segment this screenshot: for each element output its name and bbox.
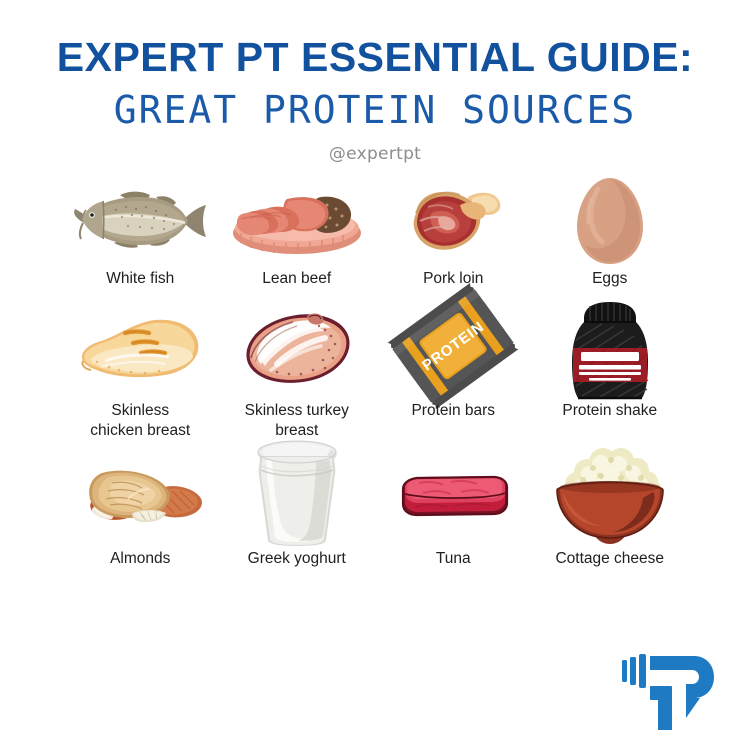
item-label: Protein bars bbox=[411, 401, 495, 421]
protein-sources-grid: White fish bbox=[62, 180, 688, 591]
item-label: Eggs bbox=[592, 269, 627, 289]
tuna-steak-icon bbox=[393, 446, 513, 542]
item-greek-yoghurt: Greek yoghurt bbox=[219, 446, 376, 591]
item-label: Skinless chicken breast bbox=[90, 401, 190, 441]
item-protein-bars: PROTEIN Protein bars bbox=[375, 298, 532, 446]
item-almonds: Almonds bbox=[62, 446, 219, 591]
item-lean-beef: Lean beef bbox=[219, 180, 376, 298]
item-label: White fish bbox=[106, 269, 174, 289]
poster-header: EXPERT PT ESSENTIAL GUIDE: GREAT PROTEIN… bbox=[0, 0, 750, 164]
item-pork-loin: Pork loin bbox=[375, 180, 532, 298]
yoghurt-pot-icon bbox=[250, 446, 344, 542]
social-handle: @expertpt bbox=[0, 144, 750, 164]
egg-icon bbox=[571, 180, 649, 262]
item-white-fish: White fish bbox=[62, 180, 219, 298]
expert-pt-logo[interactable] bbox=[620, 652, 716, 732]
turkey-breast-icon bbox=[237, 298, 357, 394]
cheese-bowl-icon bbox=[543, 446, 677, 542]
item-cottage-cheese: Cottage cheese bbox=[532, 446, 689, 591]
page-title-line2: GREAT PROTEIN SOURCES bbox=[0, 85, 750, 136]
item-label: Protein shake bbox=[562, 401, 657, 421]
item-label: Almonds bbox=[110, 549, 170, 569]
item-tuna: Tuna bbox=[375, 446, 532, 591]
item-label: Cottage cheese bbox=[555, 549, 664, 569]
item-skinless-turkey: Skinless turkey breast bbox=[219, 298, 376, 446]
item-label: Pork loin bbox=[423, 269, 483, 289]
protein-tub-icon bbox=[562, 298, 658, 394]
page-title-line1: EXPERT PT ESSENTIAL GUIDE: bbox=[0, 36, 750, 79]
item-label: Lean beef bbox=[262, 269, 331, 289]
item-skinless-chicken: Skinless chicken breast bbox=[62, 298, 219, 446]
pork-joint-icon bbox=[398, 180, 508, 262]
item-label: Skinless turkey breast bbox=[245, 401, 349, 441]
protein-bar-icon: PROTEIN bbox=[398, 298, 508, 394]
item-protein-shake: Protein shake bbox=[532, 298, 689, 446]
item-label: Tuna bbox=[436, 549, 471, 569]
item-eggs: Eggs bbox=[532, 180, 689, 298]
almonds-icon bbox=[72, 446, 208, 542]
infographic-poster: EXPERT PT ESSENTIAL GUIDE: GREAT PROTEIN… bbox=[0, 0, 750, 750]
fish-icon bbox=[70, 180, 210, 262]
chicken-breast-icon bbox=[75, 298, 205, 394]
roast-beef-plate-icon bbox=[229, 180, 365, 262]
item-label: Greek yoghurt bbox=[248, 549, 346, 569]
